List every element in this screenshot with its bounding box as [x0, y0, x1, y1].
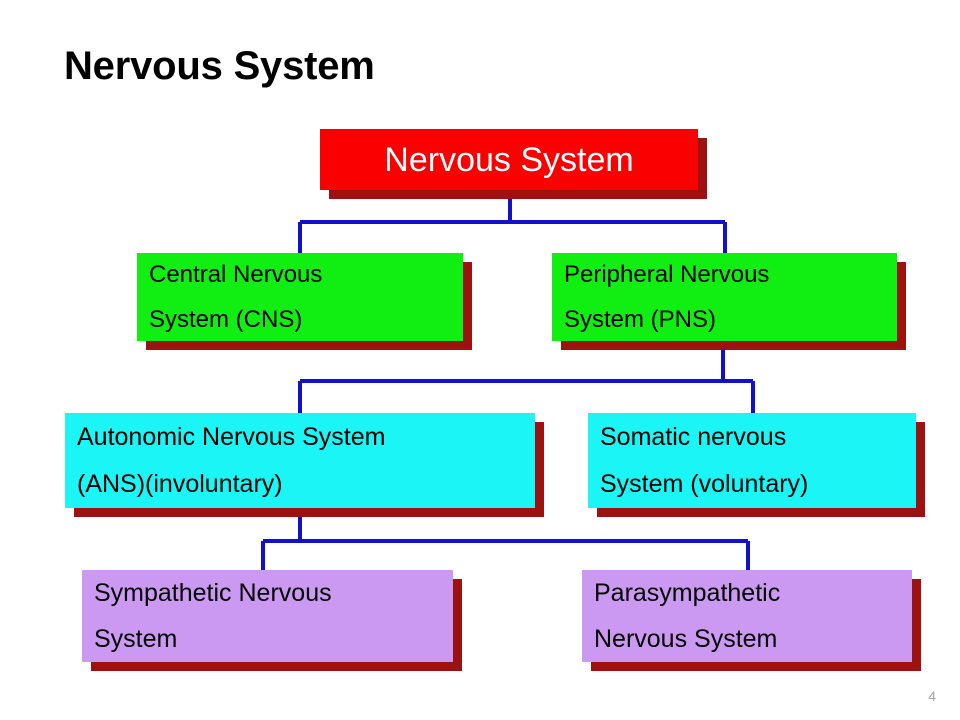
node-label-line: Nervous System: [594, 616, 900, 662]
node-nervous-system-root[interactable]: Nervous System: [320, 129, 698, 190]
node-face: Central Nervous System (CNS): [137, 253, 463, 341]
edge-ans-to-level4: [263, 508, 748, 570]
node-label-line: Central Nervous: [149, 252, 451, 297]
node-label-line: System (CNS): [149, 297, 451, 342]
edge-root-to-level2: [300, 190, 725, 253]
node-label-line: Peripheral Nervous: [564, 252, 885, 297]
node-label-line: Sympathetic Nervous: [94, 570, 441, 616]
node-parasympathetic-nervous-system[interactable]: Parasympathetic Nervous System: [582, 570, 912, 662]
node-face: Parasympathetic Nervous System: [582, 570, 912, 662]
node-label-line: System (PNS): [564, 297, 885, 342]
node-autonomic-nervous-system[interactable]: Autonomic Nervous System (ANS)(involunta…: [65, 413, 535, 508]
node-face: Nervous System: [320, 129, 698, 190]
node-label-line: Nervous System: [384, 140, 633, 180]
node-label-line: Parasympathetic: [594, 570, 900, 616]
node-label-line: Autonomic Nervous System: [77, 414, 523, 461]
node-face: Sympathetic Nervous System: [82, 570, 453, 662]
page-number: 4: [928, 688, 936, 704]
node-label-line: System: [94, 616, 441, 662]
node-central-nervous-system[interactable]: Central Nervous System (CNS): [137, 253, 463, 341]
node-sympathetic-nervous-system[interactable]: Sympathetic Nervous System: [82, 570, 453, 662]
node-peripheral-nervous-system[interactable]: Peripheral Nervous System (PNS): [552, 253, 897, 341]
node-face: Somatic nervous System (voluntary): [588, 413, 916, 508]
node-somatic-nervous-system[interactable]: Somatic nervous System (voluntary): [588, 413, 916, 508]
node-label-line: Somatic nervous: [600, 414, 904, 461]
node-face: Autonomic Nervous System (ANS)(involunta…: [65, 413, 535, 508]
slide-canvas: Nervous System Nervous System Central Ne…: [0, 0, 960, 720]
node-label-line: (ANS)(involuntary): [77, 461, 523, 508]
node-face: Peripheral Nervous System (PNS): [552, 253, 897, 341]
node-label-line: System (voluntary): [600, 461, 904, 508]
edge-pns-to-level3: [300, 341, 753, 413]
